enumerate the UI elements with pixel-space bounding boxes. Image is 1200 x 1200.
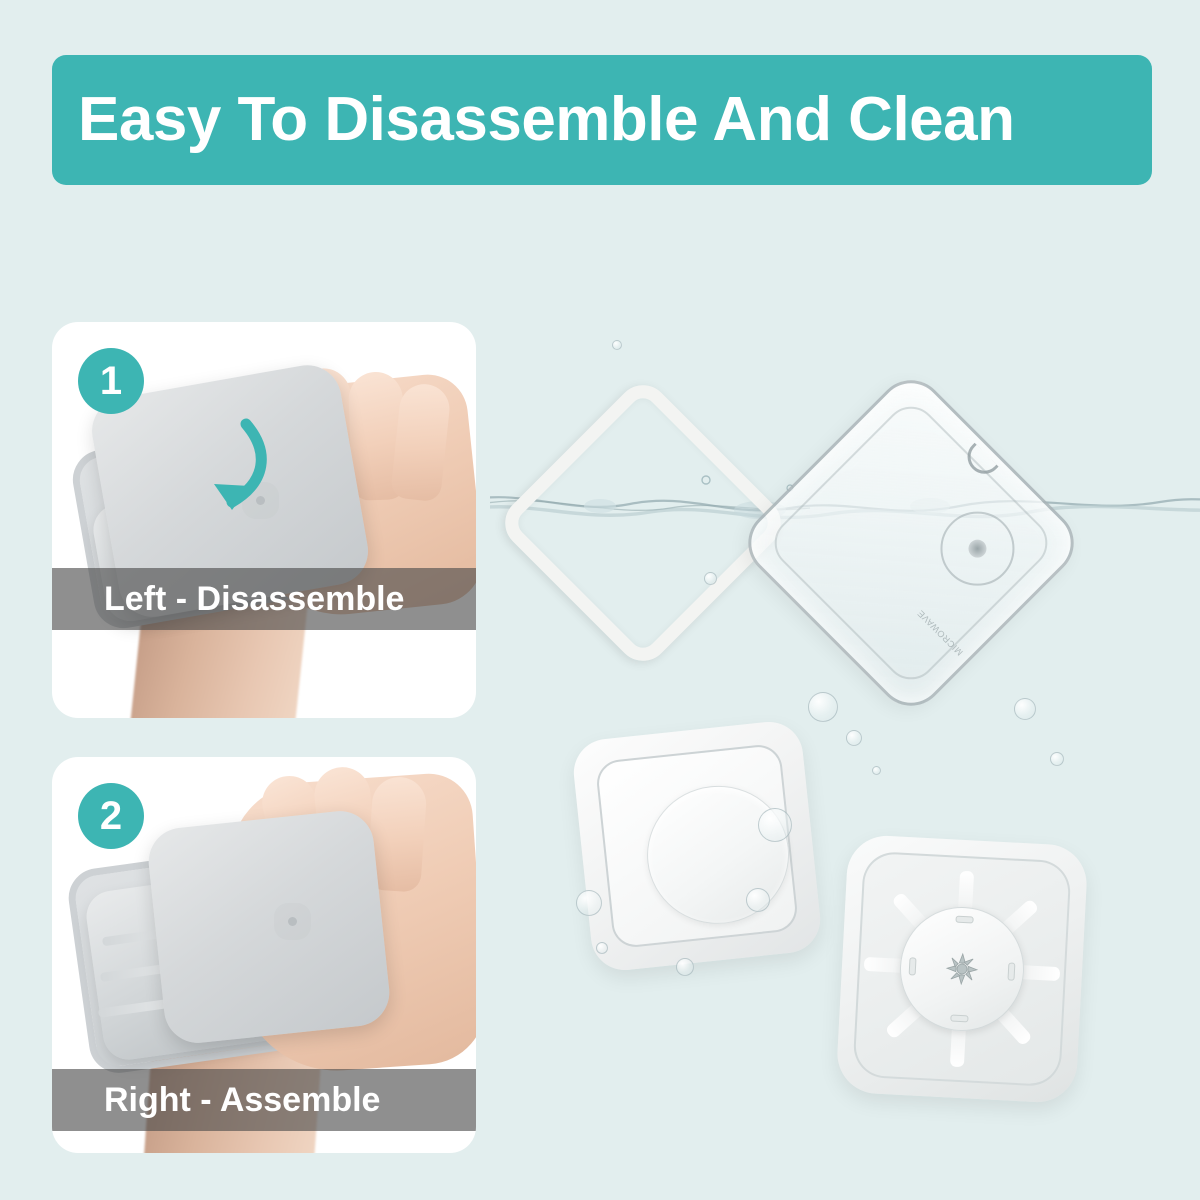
step-card-2: 2 Right - Assemble bbox=[52, 757, 476, 1153]
water-droplet bbox=[846, 730, 862, 746]
water-droplet bbox=[612, 340, 622, 350]
step-card-1: 1 Left - Disassemble bbox=[52, 322, 476, 718]
rotate-counterclockwise-arrow-icon bbox=[174, 410, 284, 520]
lid-plate bbox=[145, 808, 392, 1046]
hub-slot bbox=[909, 957, 917, 975]
hub-slot bbox=[950, 1014, 968, 1022]
water-droplet bbox=[758, 808, 792, 842]
hub-slot bbox=[955, 916, 973, 924]
step-caption-bar-1: Left - Disassemble bbox=[52, 568, 476, 630]
silicone-seal-ring bbox=[495, 375, 792, 672]
page-title: Easy To Disassemble And Clean bbox=[52, 89, 1015, 151]
water-droplet bbox=[596, 942, 608, 954]
hub-blade-icon bbox=[944, 951, 980, 987]
lid-groove bbox=[595, 743, 800, 949]
base-inner-well bbox=[852, 851, 1072, 1088]
hub-slot bbox=[1007, 962, 1015, 980]
step-caption-1: Left - Disassemble bbox=[52, 582, 404, 616]
water-droplet bbox=[1014, 698, 1036, 720]
water-droplet bbox=[808, 692, 838, 722]
product-water-scene: MICROWAVE bbox=[490, 200, 1200, 1200]
white-ribbed-base-plate bbox=[835, 834, 1088, 1104]
lid-vent-dot bbox=[288, 917, 297, 926]
header-banner: Easy To Disassemble And Clean bbox=[52, 55, 1152, 185]
water-droplet bbox=[746, 888, 770, 912]
water-droplet bbox=[704, 572, 717, 585]
step-caption-bar-2: Right - Assemble bbox=[52, 1069, 476, 1131]
water-droplet bbox=[1050, 752, 1064, 766]
step-badge-2: 2 bbox=[78, 783, 144, 849]
water-droplet bbox=[576, 890, 602, 916]
water-droplet bbox=[872, 766, 881, 775]
step-badge-1: 1 bbox=[78, 348, 144, 414]
transparent-container-body: MICROWAVE bbox=[734, 366, 1088, 720]
white-lid-plate bbox=[571, 719, 824, 974]
water-droplet bbox=[676, 958, 694, 976]
step-caption-2: Right - Assemble bbox=[52, 1083, 380, 1117]
lid-center-disc bbox=[640, 779, 796, 931]
